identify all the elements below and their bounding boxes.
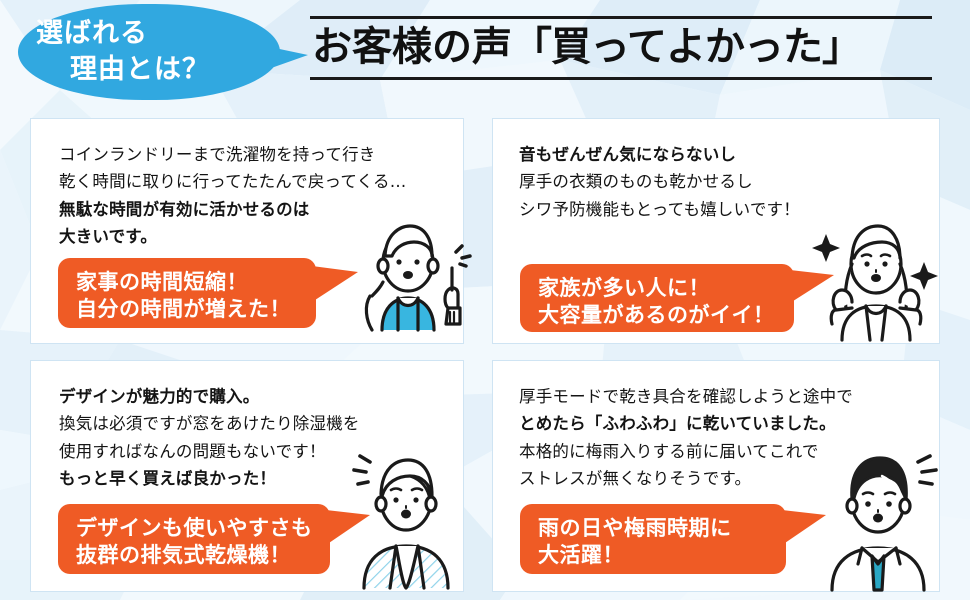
highlight-line2: 大容量があるのがイイ！: [538, 302, 776, 329]
testimonial-line: コインランドリーまで洗濯物を持って行き: [59, 141, 453, 168]
header-bubble-line2: 理由とは？: [18, 52, 280, 88]
title-rule-bottom: [310, 77, 932, 80]
highlight-line2: 抜群の排気式乾燥機！: [76, 542, 312, 569]
testimonial-line: デザインが魅力的で購入。: [59, 383, 453, 410]
highlight-bubble-tail-1: [312, 266, 358, 302]
highlight-bubble-3: デザインも使いやすさも 抜群の排気式乾燥機！: [58, 504, 330, 574]
testimonial-line: 厚手モードで乾き具合を確認しようと途中で: [519, 383, 929, 410]
highlight-line1: 家事の時間短縮！: [76, 269, 298, 296]
highlight-line2: 大活躍！: [538, 542, 768, 569]
woman-pointing-finger-icon: [352, 212, 472, 344]
highlight-bubble-tail-2: [790, 270, 834, 303]
highlight-bubble-tail-3: [326, 510, 370, 545]
highlight-line2: 自分の時間が増えた！: [76, 296, 298, 323]
man-with-necktie-icon: [818, 444, 944, 592]
title-quoted: 「買ってよかった」: [512, 24, 861, 70]
highlight-bubble-2: 家族が多い人に！ 大容量があるのがイイ！: [520, 264, 794, 332]
testimonial-graphic: 選ばれる 理由とは？ お客様の声「買ってよかった」 コインランドリーまで洗濯物を…: [0, 0, 970, 600]
testimonial-line: 乾く時間に取りに行ってたたんで戻ってくる…: [59, 168, 453, 195]
testimonial-line: とめたら「ふわふわ」に乾いていました。: [519, 410, 929, 437]
testimonial-line: 厚手の衣類のものも乾かせるし: [519, 168, 929, 195]
highlight-line1: 家族が多い人に！: [538, 275, 776, 302]
page-title: お客様の声「買ってよかった」: [310, 16, 932, 80]
header-bubble-line1: 選ばれる: [18, 16, 280, 52]
highlight-line1: 雨の日や梅雨時期に: [538, 515, 768, 542]
title-plain: お客様の声: [312, 24, 512, 70]
highlight-bubble-4: 雨の日や梅雨時期に 大活躍！: [520, 504, 786, 574]
testimonial-text-2: 音もぜんぜん気にならないし 厚手の衣類のものも乾かせるし シワ予防機能もとっても…: [519, 141, 929, 223]
highlight-bubble-tail-4: [782, 510, 826, 545]
testimonial-line: 換気は必須ですが窓をあけたり除湿機を: [59, 410, 453, 437]
highlight-bubble-1: 家事の時間短縮！ 自分の時間が増えた！: [58, 258, 316, 328]
testimonial-line: 音もぜんぜん気にならないし: [519, 141, 929, 168]
title-text: お客様の声「買ってよかった」: [310, 19, 932, 75]
highlight-line1: デザインも使いやすさも: [76, 515, 312, 542]
header-bubble-text: 選ばれる 理由とは？: [18, 4, 280, 100]
